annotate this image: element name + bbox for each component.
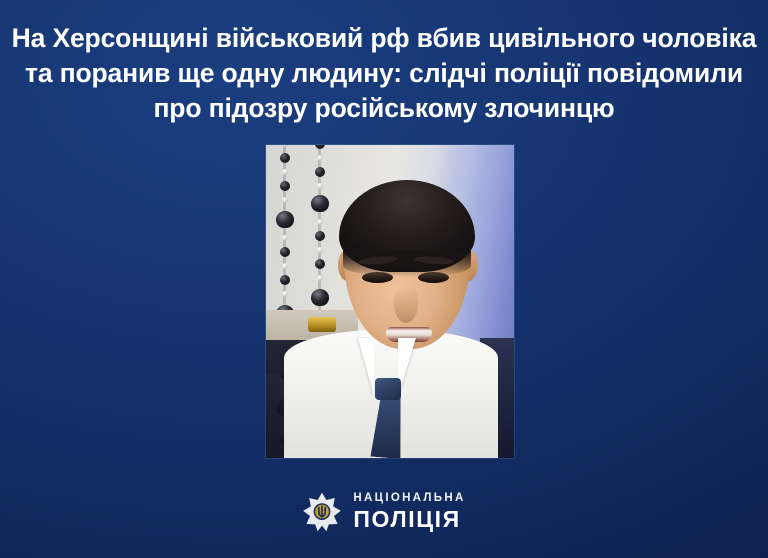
subject-tie-knot bbox=[375, 378, 401, 400]
logo-line-politsiya: ПОЛІЦІЯ bbox=[353, 508, 460, 531]
police-logo-text: НАЦІОНАЛЬНА ПОЛІЦІЯ bbox=[353, 493, 465, 531]
subject-eye-right bbox=[418, 272, 449, 283]
photo-gold-object bbox=[308, 317, 336, 332]
police-badge-star-icon bbox=[302, 492, 342, 532]
subject-hair bbox=[339, 180, 475, 272]
subject-collar-left bbox=[358, 338, 374, 396]
headline-line-1: На Херсонщині військовий рф вбив цивільн… bbox=[0, 21, 768, 56]
logo-line-natsionalna: НАЦІОНАЛЬНА bbox=[353, 493, 465, 505]
subject-eye-left bbox=[362, 272, 393, 283]
headline-line-2: та поранив ще одну людину: слідчі поліці… bbox=[0, 56, 768, 91]
headline-line-3: про підозру російському злочинцю bbox=[0, 91, 768, 126]
police-logo: НАЦІОНАЛЬНА ПОЛІЦІЯ bbox=[0, 492, 768, 532]
subject-photo bbox=[266, 145, 514, 458]
photo-background bbox=[266, 145, 514, 458]
subject-nose bbox=[394, 285, 418, 323]
news-card: На Херсонщині військовий рф вбив цивільн… bbox=[0, 0, 768, 558]
page-title: На Херсонщині військовий рф вбив цивільн… bbox=[0, 21, 768, 127]
